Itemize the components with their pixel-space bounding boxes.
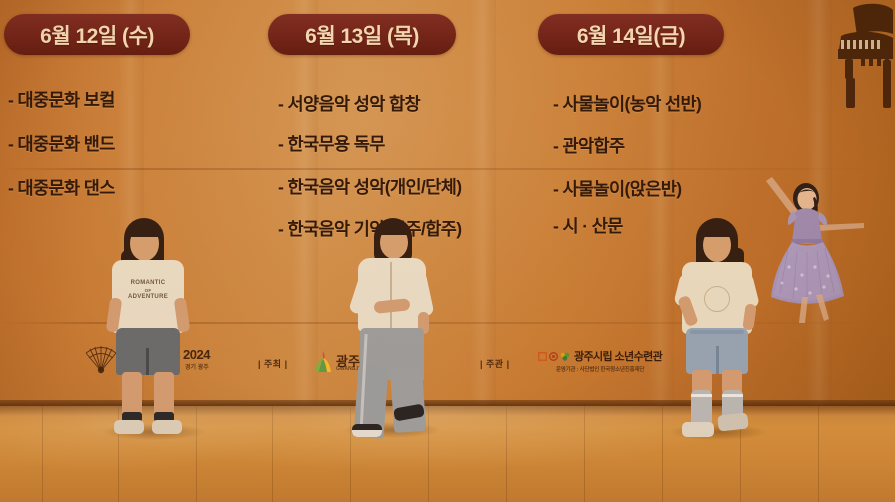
shoe-right — [717, 412, 749, 431]
organizer-label: | 주관 | — [480, 357, 510, 370]
list-item: - 사물놀이(앉은반) — [553, 176, 681, 201]
dancer-left: ROMANTIC OF ADVENTURE — [96, 214, 216, 440]
list-item: - 서양음악 성악 합창 — [278, 91, 420, 116]
shoe-left-sole — [352, 430, 382, 437]
hair-fringe — [128, 222, 162, 237]
shirt-text-line1: ROMANTIC — [112, 280, 184, 287]
list-item: - 대중문화 보컬 — [8, 87, 115, 112]
dancer-center — [344, 216, 440, 438]
date-label-col2: 6월 13일 (목) — [305, 20, 419, 50]
piano-icon — [801, 0, 893, 108]
date-pill-col1: 6월 12일 (수) — [4, 14, 190, 55]
list-item: - 관악합주 — [553, 133, 625, 158]
list-item: - 시 · 산문 — [553, 213, 623, 238]
date-pill-col3: 6월 14일(금) — [538, 14, 724, 55]
leaf-mark-icon — [560, 352, 570, 361]
organizer-logo: 광주시립 소년수련관 운영기관 : 사단법인 한국청소년진흥재단 — [538, 348, 662, 373]
date-label-col3: 6월 14일(금) — [577, 20, 685, 50]
banner-fold — [470, 0, 496, 407]
square-mark-icon — [538, 352, 547, 361]
blouse-placket — [390, 262, 392, 328]
list-item: - 한국음악 성악(개인/단체) — [278, 174, 461, 199]
host-label: | 주최 | — [258, 357, 288, 370]
shoe-left — [114, 420, 144, 434]
hair-fringe — [377, 221, 410, 235]
stage-photo-scene: 6월 12일 (수) - 대중문화 보컬 - 대중문화 밴드 - 대중문화 댄스… — [0, 0, 895, 502]
organizer-logo-sub: 운영기관 : 사단법인 한국청소년진흥재단 — [556, 365, 644, 373]
list-item: - 한국무용 독무 — [278, 131, 385, 156]
organizer-logo-title: 광주시립 소년수련관 — [574, 348, 662, 364]
circle-mark-icon — [549, 352, 558, 361]
pant-leg-right — [390, 365, 427, 433]
shoe-left — [682, 422, 714, 437]
shirt: ROMANTIC OF ADVENTURE — [112, 260, 184, 333]
sock-left — [691, 390, 712, 426]
date-label-col1: 6월 12일 (수) — [40, 20, 154, 50]
list-item: - 대중문화 댄스 — [8, 175, 115, 200]
gwangju-logo-icon — [310, 350, 336, 374]
denim-waistband — [690, 330, 744, 334]
date-pill-col2: 6월 13일 (목) — [268, 14, 456, 55]
dancer-right — [668, 218, 768, 440]
list-item: - 사물놀이(농악 선반) — [553, 91, 701, 116]
shirt-graphic — [704, 286, 730, 312]
forearm-right — [742, 303, 757, 330]
banner-fold — [292, 0, 318, 407]
hair-fringe — [700, 223, 734, 237]
shoe-right — [152, 420, 182, 434]
list-item: - 대중문화 밴드 — [8, 131, 115, 156]
shirt-text-line2: ADVENTURE — [112, 294, 184, 301]
